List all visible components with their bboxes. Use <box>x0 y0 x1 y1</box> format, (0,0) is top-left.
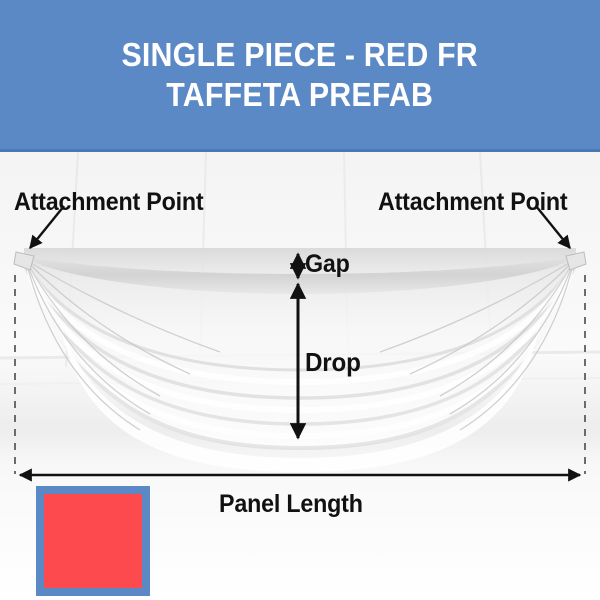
label-gap: Gap <box>305 252 350 277</box>
label-attachment-point-left: Attachment Point <box>14 190 203 215</box>
label-drop: Drop <box>305 350 361 375</box>
header-band: SINGLE PIECE - RED FR TAFFETA PREFAB <box>0 0 600 152</box>
color-swatch[interactable] <box>36 486 150 596</box>
product-diagram-page: SINGLE PIECE - RED FR TAFFETA PREFAB <box>0 0 600 600</box>
label-panel-length: Panel Length <box>219 492 363 517</box>
color-swatch-fill <box>44 494 142 588</box>
label-attachment-point-right: Attachment Point <box>378 190 567 215</box>
page-title: SINGLE PIECE - RED FR TAFFETA PREFAB <box>113 35 488 115</box>
